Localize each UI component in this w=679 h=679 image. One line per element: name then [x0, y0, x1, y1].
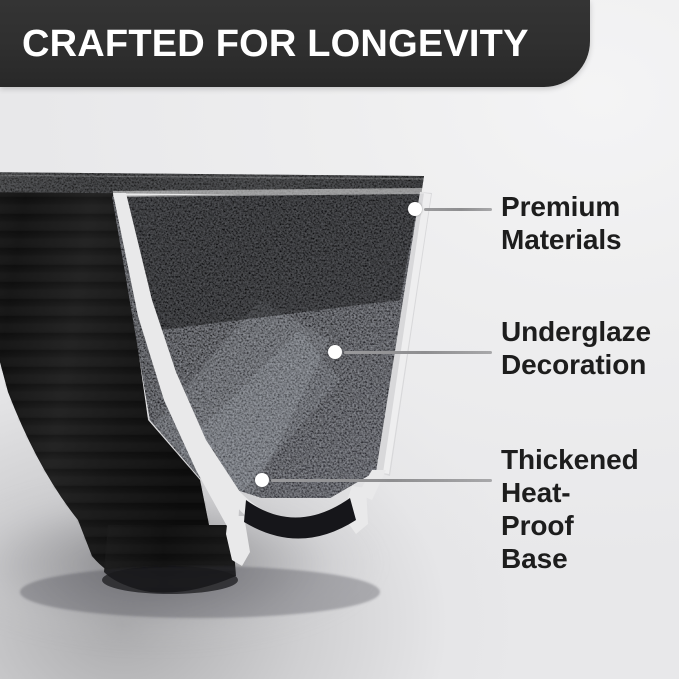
banner-title: CRAFTED FOR LONGEVITY: [22, 25, 529, 63]
callout-dot-premium-materials: [408, 202, 422, 216]
callout-label-underglaze-decoration: Underglaze Decoration: [501, 315, 651, 381]
product-infographic: CRAFTED FOR LONGEVITY Premium Materials …: [0, 0, 679, 679]
callout-line-premium-materials: [424, 208, 492, 211]
header-banner: CRAFTED FOR LONGEVITY: [0, 0, 590, 87]
contact-shadow: [20, 566, 380, 618]
callout-line-thickened-heat-proof-base: [271, 479, 492, 482]
bowl-cross-section-svg: [0, 0, 460, 679]
callout-line-underglaze-decoration: [344, 351, 492, 354]
callout-label-thickened-heat-proof-base: Thickened Heat-Proof Base: [501, 443, 639, 575]
callout-dot-thickened-heat-proof-base: [255, 473, 269, 487]
bowl-illustration: [0, 0, 460, 679]
bowl-base-thickness: [244, 498, 356, 539]
callout-label-premium-materials: Premium Materials: [501, 190, 622, 256]
callout-dot-underglaze-decoration: [328, 345, 342, 359]
